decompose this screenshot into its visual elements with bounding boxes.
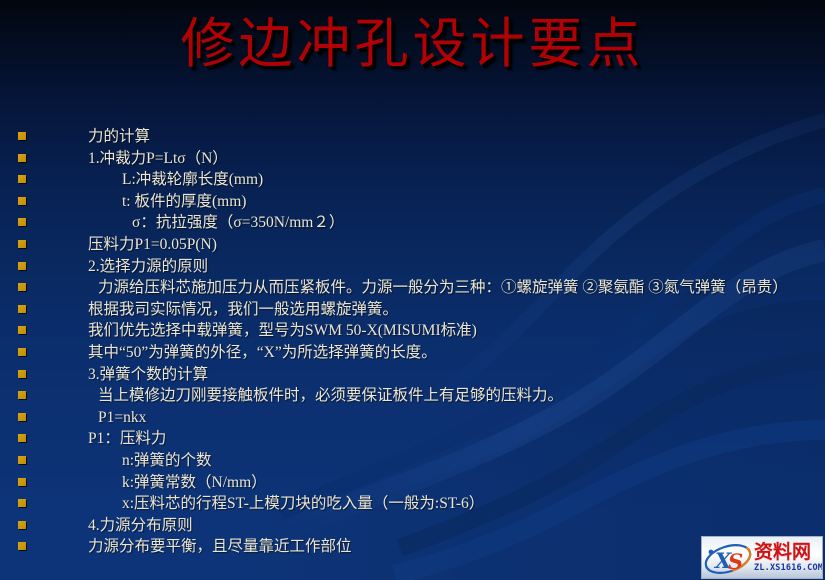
list-item: 其中“50”为弹簧的外径，“X”为所选择弹簧的长度。 bbox=[0, 342, 825, 364]
bullet-square-icon bbox=[18, 326, 26, 334]
list-item: P1：压料力 bbox=[0, 428, 825, 450]
presentation-slide: 修边冲孔设计要点 力的计算 1.冲裁力P=Ltσ（N） L:冲裁轮廓长度(mm)… bbox=[0, 0, 825, 580]
list-item: n:弹簧的个数 bbox=[0, 450, 825, 472]
bullet-text: σ：抗拉强度（σ=350N/mm２） bbox=[88, 212, 821, 234]
bullet-text: L:冲裁轮廓长度(mm) bbox=[88, 169, 821, 191]
list-item: P1=nkx bbox=[0, 407, 825, 429]
slide-title-block: 修边冲孔设计要点 bbox=[0, 16, 825, 73]
bullet-text: 我们优先选择中载弹簧，型号为SWM 50-X(MISUMI标准) bbox=[88, 320, 821, 342]
list-item: 我们优先选择中载弹簧，型号为SWM 50-X(MISUMI标准) bbox=[0, 320, 825, 342]
bullet-square-icon bbox=[18, 542, 26, 550]
site-watermark: X S 资料网 ZL.XS1616.COM bbox=[701, 536, 823, 579]
list-item: k:弹簧常数（N/mm） bbox=[0, 472, 825, 494]
list-item: 1.冲裁力P=Ltσ（N） bbox=[0, 148, 825, 170]
bullet-square-icon bbox=[18, 197, 26, 205]
list-item: 2.选择力源的原则 bbox=[0, 256, 825, 278]
bullet-square-icon bbox=[18, 521, 26, 529]
list-item: 根据我司实际情况，我们一般选用螺旋弹簧。 bbox=[0, 299, 825, 321]
bullet-text: P1：压料力 bbox=[88, 428, 821, 450]
bullet-square-icon bbox=[18, 499, 26, 507]
bullet-square-icon bbox=[18, 305, 26, 313]
bullet-text: 当上模修边刀刚要接触板件时，必须要保证板件上有足够的压料力。 bbox=[88, 385, 821, 407]
bullet-square-icon bbox=[18, 218, 26, 226]
slide-body-bullet-list: 力的计算 1.冲裁力P=Ltσ（N） L:冲裁轮廓长度(mm) t: 板件的厚度… bbox=[0, 126, 825, 558]
bullet-square-icon bbox=[18, 283, 26, 291]
bullet-text: 根据我司实际情况，我们一般选用螺旋弹簧。 bbox=[88, 299, 821, 321]
list-item: 当上模修边刀刚要接触板件时，必须要保证板件上有足够的压料力。 bbox=[0, 385, 825, 407]
bullet-square-icon bbox=[18, 262, 26, 270]
bullet-square-icon bbox=[18, 413, 26, 421]
watermark-text-block: 资料网 ZL.XS1616.COM bbox=[754, 542, 823, 574]
bullet-square-icon bbox=[18, 154, 26, 162]
list-item: 3.弹簧个数的计算 bbox=[0, 364, 825, 386]
bullet-square-icon bbox=[18, 240, 26, 248]
list-item: 力的计算 bbox=[0, 126, 825, 148]
bullet-text: 力的计算 bbox=[88, 126, 821, 148]
bullet-square-icon bbox=[18, 434, 26, 442]
svg-text:S: S bbox=[728, 549, 743, 574]
bullet-square-icon bbox=[18, 348, 26, 356]
watermark-site-name: 资料网 bbox=[754, 542, 823, 563]
bullet-text: 4.力源分布原则 bbox=[88, 515, 821, 537]
bullet-text: 其中“50”为弹簧的外径，“X”为所选择弹簧的长度。 bbox=[88, 342, 821, 364]
bullet-square-icon bbox=[18, 456, 26, 464]
bullet-text: x:压料芯的行程ST-上模刀块的吃入量（一般为:ST-6） bbox=[88, 493, 821, 515]
list-item: 压料力P1=0.05P(N) bbox=[0, 234, 825, 256]
xs-logo-icon: X S bbox=[702, 538, 754, 578]
watermark-url: ZL.XS1616.COM bbox=[754, 563, 823, 574]
bullet-square-icon bbox=[18, 175, 26, 183]
list-item: t: 板件的厚度(mm) bbox=[0, 191, 825, 213]
bullet-square-icon bbox=[18, 370, 26, 378]
list-item: 力源给压料芯施加压力从而压紧板件。力源一般分为三种：①螺旋弹簧 ②聚氨酯 ③氮气… bbox=[0, 277, 825, 299]
bullet-text: 2.选择力源的原则 bbox=[88, 256, 821, 278]
bullet-text: 1.冲裁力P=Ltσ（N） bbox=[88, 148, 821, 170]
list-item: σ：抗拉强度（σ=350N/mm２） bbox=[0, 212, 825, 234]
bullet-text: k:弹簧常数（N/mm） bbox=[88, 472, 821, 494]
list-item: 4.力源分布原则 bbox=[0, 515, 825, 537]
bullet-text: 力源给压料芯施加压力从而压紧板件。力源一般分为三种：①螺旋弹簧 ②聚氨酯 ③氮气… bbox=[88, 277, 821, 299]
bullet-text: t: 板件的厚度(mm) bbox=[88, 191, 821, 213]
bullet-text: 压料力P1=0.05P(N) bbox=[88, 234, 821, 256]
list-item: L:冲裁轮廓长度(mm) bbox=[0, 169, 825, 191]
bullet-text: n:弹簧的个数 bbox=[88, 450, 821, 472]
page-title: 修边冲孔设计要点 bbox=[181, 16, 645, 73]
list-item: x:压料芯的行程ST-上模刀块的吃入量（一般为:ST-6） bbox=[0, 493, 825, 515]
bullet-square-icon bbox=[18, 478, 26, 486]
bullet-square-icon bbox=[18, 391, 26, 399]
bullet-text: 3.弹簧个数的计算 bbox=[88, 364, 821, 386]
bullet-text: P1=nkx bbox=[88, 407, 821, 429]
bullet-square-icon bbox=[18, 132, 26, 140]
